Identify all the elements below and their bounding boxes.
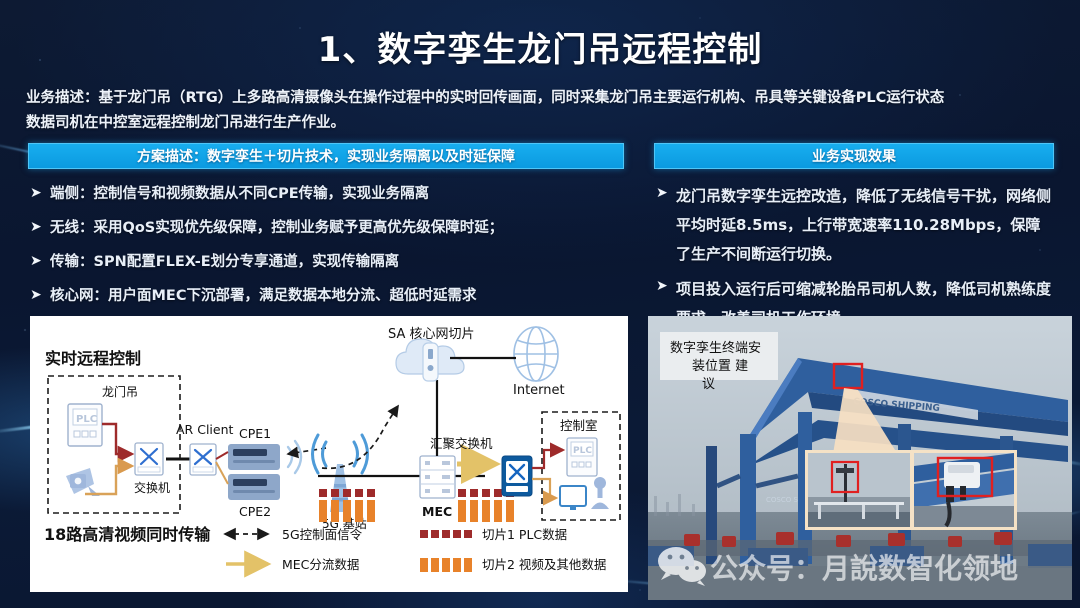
list-item: ➤ 核心网：用户面MEC下沉部署，满足数据本地分流、超低时延需求	[30, 284, 630, 309]
ar-client-switch-icon	[190, 444, 216, 475]
svg-text:AR Client: AR Client	[176, 422, 233, 437]
svg-text:Internet: Internet	[513, 383, 565, 398]
monitor-icon	[560, 486, 586, 510]
svg-text:切片2 视频及其他数据: 切片2 视频及其他数据	[482, 557, 606, 572]
bullet-text: 无线：采用QoS实现优先级保障，控制业务赋予更高优先级保障时延；	[50, 216, 503, 241]
switch-icon	[135, 443, 163, 475]
callout-line-2: 装位置 建	[692, 359, 748, 374]
arrow-bullet-icon: ➤	[30, 216, 50, 238]
bullet-text: 传输：SPN配置FLEX-E划分专享通道，实现传输隔离	[50, 250, 399, 275]
aggregation-switch-icon	[502, 456, 532, 496]
svg-text:实时远程控制: 实时远程控制	[45, 349, 141, 368]
inset-photo-right	[914, 453, 1014, 527]
business-description: 业务描述：基于龙门吊（RTG）上多路高清摄像头在操作过程中的实时回传画面，同时采…	[26, 86, 1062, 136]
list-item: ➤ 龙门吊数字孪生远控改造，降低了无线信号干扰，网络侧 平均时延8.5ms，上行…	[656, 182, 1056, 269]
description-label: 业务描述：	[26, 90, 99, 106]
watermark: 公众号：月說数智化领地	[658, 547, 1018, 586]
gantry-crane-photo: COSCO SHIPPING COSCO S	[648, 316, 1072, 600]
svg-text:交换机: 交换机	[134, 480, 170, 495]
svg-text:MEC: MEC	[422, 504, 452, 519]
svg-text:CPE1: CPE1	[239, 426, 271, 441]
control-room-plc-icon: PLC	[567, 438, 597, 476]
arrow-bullet-icon: ➤	[656, 182, 676, 204]
legend-slice2: 切片2 视频及其他数据	[420, 557, 606, 572]
bullet-key: 传输：	[50, 254, 94, 270]
svg-text:MEC分流数据: MEC分流数据	[282, 557, 359, 572]
svg-text:切片1 PLC数据: 切片1 PLC数据	[482, 527, 567, 542]
bullet-body: 采用QoS实现优先级保障，控制业务赋予更高优先级保障时延；	[94, 220, 504, 236]
list-item: ➤ 传输：SPN配置FLEX-E划分专享通道，实现传输隔离	[30, 250, 630, 275]
svg-text:PLC: PLC	[76, 414, 97, 425]
arrow-bullet-icon: ➤	[656, 275, 676, 297]
svg-text:PLC: PLC	[573, 446, 592, 456]
bullet-body: 用户面MEC下沉部署，满足数据本地分流、超低时延需求	[108, 288, 476, 304]
svg-text:汇聚交换机: 汇聚交换机	[430, 436, 493, 451]
section-header-solution: 方案描述：数字孪生＋切片技术，实现业务隔离以及时延保障	[28, 143, 624, 169]
arrow-bullet-icon: ➤	[30, 182, 50, 204]
callout-line-1: 数字孪生终端安	[670, 340, 761, 356]
inset-photos	[805, 450, 1017, 530]
arrow-bullet-icon: ➤	[30, 284, 50, 306]
list-item: ➤ 端侧：控制信号和视频数据从不同CPE传输，实现业务隔离	[30, 182, 630, 207]
plc-icon: PLC	[68, 404, 102, 446]
description-line-2: 数据司机在中控室远程控制龙门吊进行生产作业。	[26, 115, 345, 131]
bullet-text: 龙门吊数字孪生远控改造，降低了无线信号干扰，网络侧 平均时延8.5ms，上行带宽…	[676, 182, 1056, 269]
svg-text:5G控制面信令: 5G控制面信令	[282, 527, 363, 542]
inset-photo-left	[808, 453, 910, 527]
description-line-1: 基于龙门吊（RTG）上多路高清摄像头在操作过程中的实时回传画面，同时采集龙门吊主…	[99, 90, 945, 106]
svg-text:CPE2: CPE2	[239, 504, 271, 519]
svg-text:龙门吊: 龙门吊	[102, 384, 138, 399]
cpe2-icon	[228, 474, 280, 500]
bullet-key: 端侧：	[50, 186, 94, 202]
solution-bullet-list: ➤ 端侧：控制信号和视频数据从不同CPE传输，实现业务隔离 ➤ 无线：采用QoS…	[30, 182, 630, 318]
svg-text:控制室: 控制室	[560, 418, 598, 433]
bullet-text: 端侧：控制信号和视频数据从不同CPE传输，实现业务隔离	[50, 182, 429, 207]
cpe1-icon	[228, 444, 280, 470]
bullet-key: 无线：	[50, 220, 94, 236]
svg-text:18路高清视频同时传输: 18路高清视频同时传输	[44, 525, 211, 544]
page-title: 1、数字孪生龙门吊远程控制	[0, 22, 1080, 71]
bullet-key: 核心网：	[50, 288, 108, 304]
bullet-body: 控制信号和视频数据从不同CPE传输，实现业务隔离	[94, 186, 430, 202]
bullet-body: SPN配置FLEX-E划分专享通道，实现传输隔离	[94, 254, 400, 270]
section-header-effect: 业务实现效果	[654, 143, 1054, 169]
list-item: ➤ 无线：采用QoS实现优先级保障，控制业务赋予更高优先级保障时延；	[30, 216, 630, 241]
slide-root: 1、数字孪生龙门吊远程控制 业务描述：基于龙门吊（RTG）上多路高清摄像头在操作…	[0, 0, 1080, 608]
watermark-text: 公众号：月說数智化领地	[710, 552, 1018, 585]
bullet-text: 核心网：用户面MEC下沉部署，满足数据本地分流、超低时延需求	[50, 284, 476, 309]
mec-server-icon	[420, 456, 455, 498]
callout-line-3: 议	[702, 377, 715, 392]
arrow-bullet-icon: ➤	[30, 250, 50, 272]
svg-text:SA 核心网切片: SA 核心网切片	[388, 327, 475, 342]
network-architecture-diagram: 实时远程控制 龙门吊 PLC	[30, 316, 628, 592]
crane-side-text: COSCO S	[766, 496, 798, 504]
